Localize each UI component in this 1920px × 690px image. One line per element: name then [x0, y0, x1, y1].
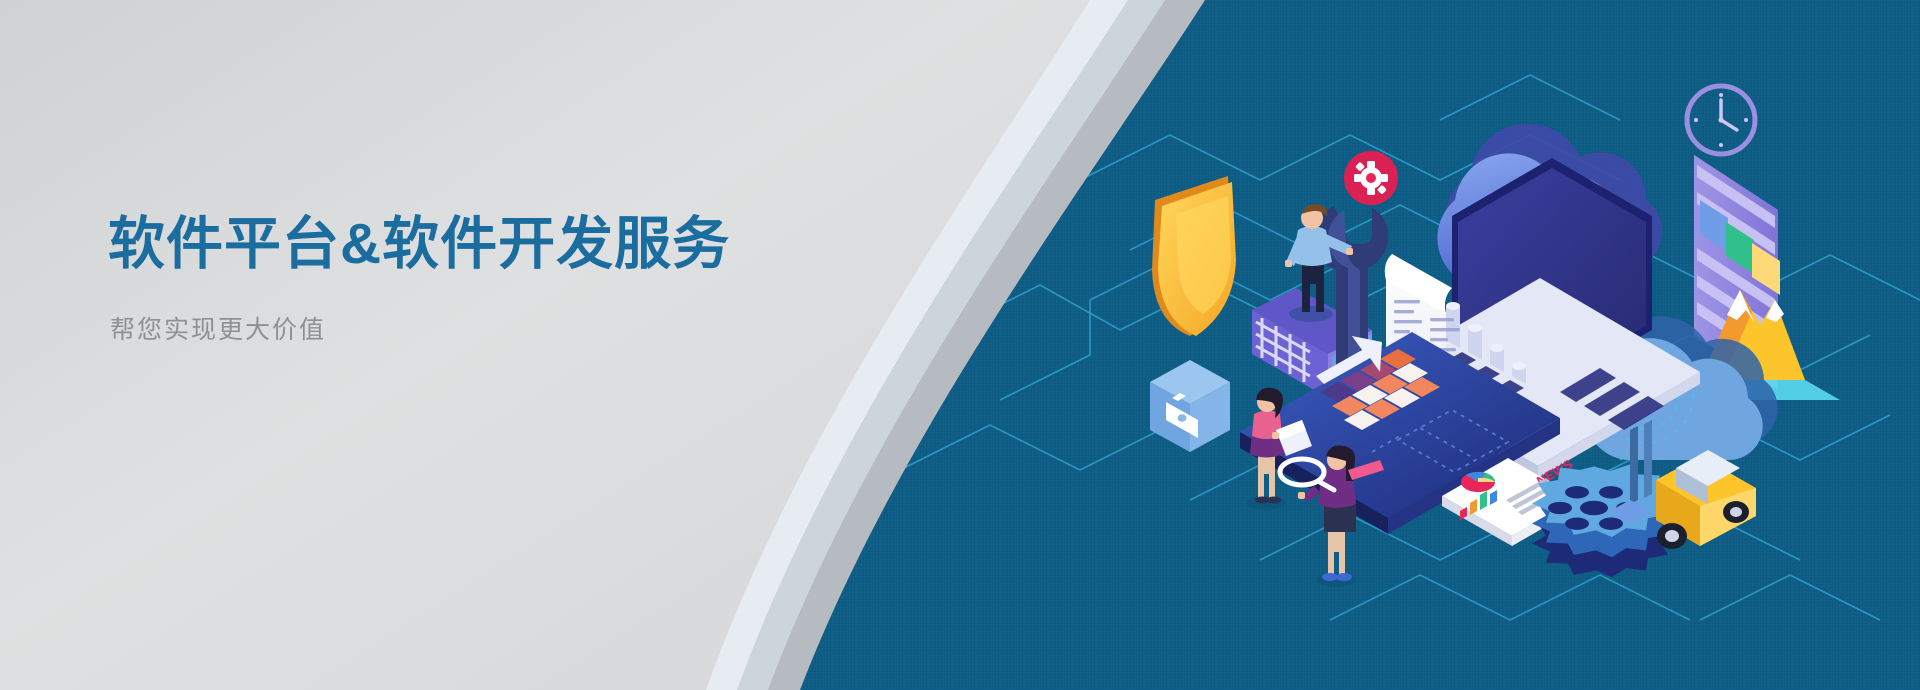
hero-banner: NEWS	[0, 0, 1920, 690]
gear-stack-icon	[1532, 464, 1674, 577]
page-subtitle: 帮您实现更大价值	[110, 310, 326, 346]
gear-badge-icon	[1344, 151, 1398, 205]
clock-icon	[1687, 86, 1755, 154]
shield-icon	[1152, 176, 1236, 336]
camera-icon	[1150, 360, 1230, 452]
pie-chart-icon	[1461, 472, 1495, 492]
page-title: 软件平台&软件开发服务	[108, 212, 730, 278]
